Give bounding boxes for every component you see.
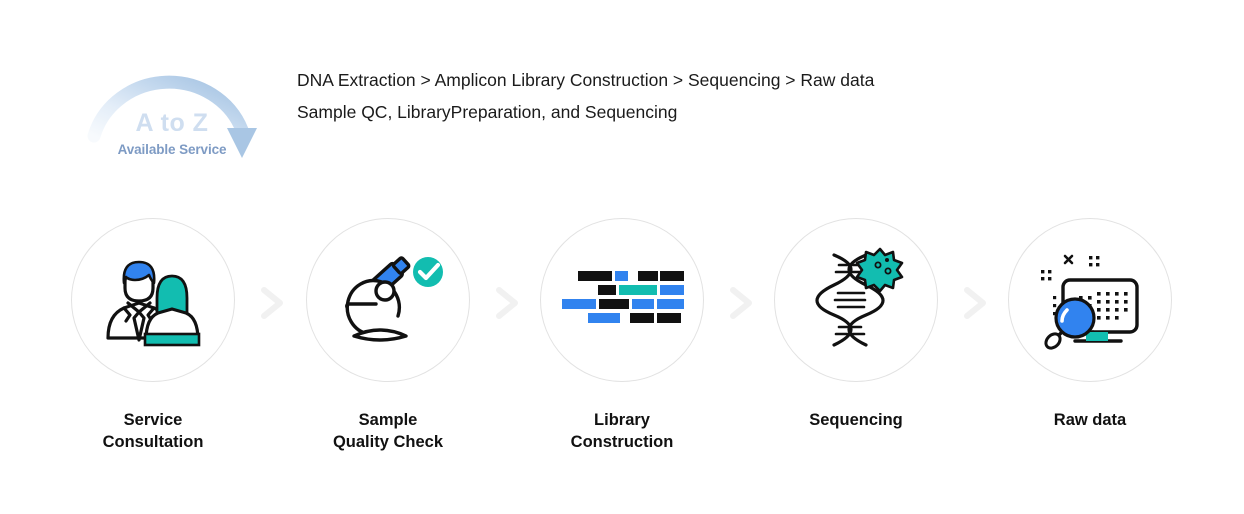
a-to-z-title: A to Z [86, 110, 258, 138]
step-label: Service Consultation [41, 409, 265, 453]
step-circle [1008, 218, 1172, 382]
step-label-line2: Consultation [41, 431, 265, 453]
step-label-line1: Raw data [978, 409, 1202, 431]
a-to-z-subtitle: Available Service [86, 142, 258, 157]
step-label-line1: Service [41, 409, 265, 431]
workflow-step-library-construction[interactable]: Library Construction [510, 218, 734, 453]
workflow-step-raw-data[interactable]: Raw data [978, 218, 1202, 431]
header-line-1: DNA Extraction > Amplicon Library Constr… [297, 64, 997, 96]
workflow-step-sequencing[interactable]: Sequencing [744, 218, 968, 431]
step-circle [540, 218, 704, 382]
step-label-line1: Sample [276, 409, 500, 431]
step-circle [71, 218, 235, 382]
step-label: Raw data [978, 409, 1202, 431]
workflow-infographic: A to Z Available Service DNA Extraction … [0, 0, 1244, 514]
header-text-block: DNA Extraction > Amplicon Library Constr… [297, 64, 997, 128]
check-badge-icon [413, 257, 443, 287]
dna-helix-virus-icon [808, 245, 904, 355]
step-label: Sequencing [744, 409, 968, 431]
workflow-steps: Service Consultation [0, 218, 1244, 458]
microscope-check-icon [332, 248, 444, 352]
step-label: Library Construction [510, 409, 734, 453]
sequence-bars-icon [560, 269, 684, 331]
step-label-line1: Sequencing [744, 409, 968, 431]
magnifier-icon [1043, 299, 1094, 351]
workflow-step-sample-quality-check[interactable]: Sample Quality Check [276, 218, 500, 453]
step-circle [306, 218, 470, 382]
a-to-z-badge: A to Z Available Service [86, 32, 276, 172]
step-label-line2: Construction [510, 431, 734, 453]
consultation-people-icon [98, 250, 208, 350]
step-label-line2: Quality Check [276, 431, 500, 453]
step-label: Sample Quality Check [276, 409, 500, 453]
step-label-line1: Library [510, 409, 734, 431]
header-line-2: Sample QC, LibraryPreparation, and Seque… [297, 96, 997, 128]
step-circle [774, 218, 938, 382]
monitor-magnifier-icon [1031, 248, 1149, 352]
workflow-step-service-consultation[interactable]: Service Consultation [41, 218, 265, 453]
